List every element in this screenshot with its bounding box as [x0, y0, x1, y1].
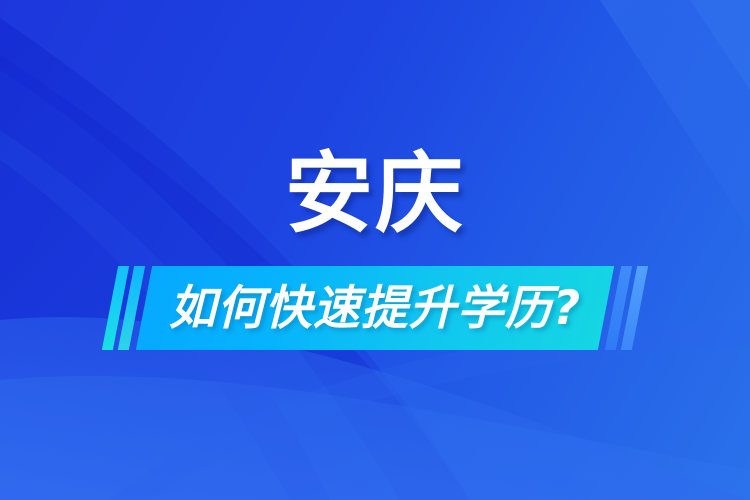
decor-curve-light-bottom-2 — [0, 376, 750, 500]
subtitle-banner: 如何快速提升学历? — [136, 266, 614, 350]
left-slash-group — [110, 266, 137, 350]
subtitle-text: 如何快速提升学历? — [169, 285, 581, 332]
poster-canvas: 安庆 如何快速提升学历? — [0, 0, 750, 500]
decor-curve-dark-upper — [0, 18, 470, 500]
right-slash-group — [613, 266, 640, 350]
title-block: 安庆 — [0, 150, 750, 238]
subtitle-banner-row: 如何快速提升学历? — [0, 266, 750, 350]
page-title: 安庆 — [285, 150, 465, 238]
background-decoration — [0, 0, 750, 500]
decor-band-right-2 — [690, 0, 750, 90]
